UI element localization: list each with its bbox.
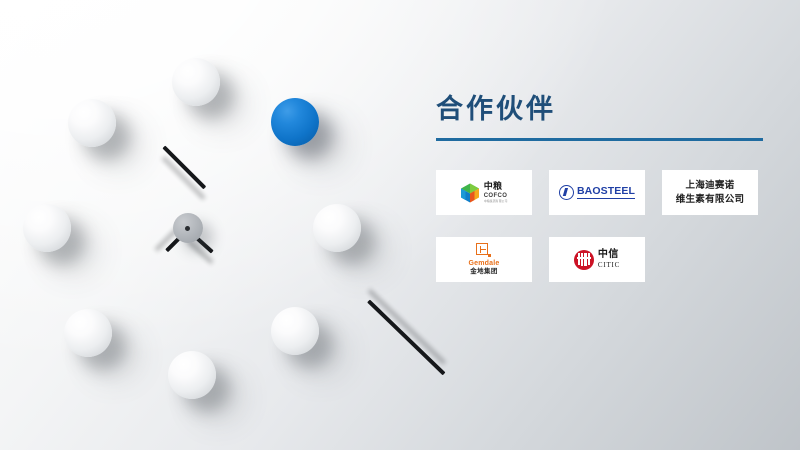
gemdale-name-en: Gemdale: [469, 260, 500, 267]
clock-marker-7: [64, 309, 112, 357]
clock-hour-hand: [163, 145, 206, 188]
citic-name-cn: 中信: [598, 250, 619, 260]
gemdale-name-cn: 金地集团: [470, 269, 498, 276]
partner-card-baosteel[interactable]: BAOSTEEL: [549, 170, 645, 215]
partner-logo-grid: 中粮 COFCO 中粮集团有限公司 BAOSTEEL 上海迪赛诺 维生素有限公司: [436, 170, 776, 282]
clock-hub-pin: [185, 226, 190, 231]
partner-card-citic[interactable]: 中信 CITIC: [549, 237, 645, 282]
clock-marker-5: [271, 307, 319, 355]
disano-name-line1: 上海迪赛诺: [676, 179, 745, 193]
clock-marker-6: [168, 351, 216, 399]
clock-marker-12: [172, 58, 220, 106]
slide-canvas: 合作伙伴: [0, 0, 800, 450]
clock-marker-3: [313, 204, 361, 252]
disano-name-line2: 维生素有限公司: [676, 193, 745, 207]
clock-marker-11: [68, 99, 116, 147]
page-title: 合作伙伴: [436, 96, 556, 123]
baosteel-name: BAOSTEEL: [577, 186, 635, 199]
citic-emblem-icon: [574, 250, 594, 270]
title-underline-rule: [436, 138, 763, 141]
partner-card-cofco[interactable]: 中粮 COFCO 中粮集团有限公司: [436, 170, 532, 215]
content-panel: 合作伙伴: [400, 0, 800, 450]
partner-card-disano[interactable]: 上海迪赛诺 维生素有限公司: [662, 170, 758, 215]
cofco-name-cn: 中粮: [484, 182, 503, 191]
clock-photo: [0, 0, 400, 450]
baosteel-emblem-icon: [559, 185, 574, 200]
cofco-cube-icon: [459, 182, 481, 204]
cofco-tagline: 中粮集团有限公司: [484, 200, 508, 203]
partner-card-gemdale[interactable]: Gemdale 金地集团: [436, 237, 532, 282]
clock-marker-1: [271, 98, 319, 146]
gemdale-mark-icon: [476, 243, 491, 258]
cofco-name-en: COFCO: [484, 193, 508, 199]
citic-name-en: CITIC: [598, 262, 620, 269]
partner-card-empty-slot: [662, 237, 758, 282]
clock-marker-9: [23, 204, 71, 252]
